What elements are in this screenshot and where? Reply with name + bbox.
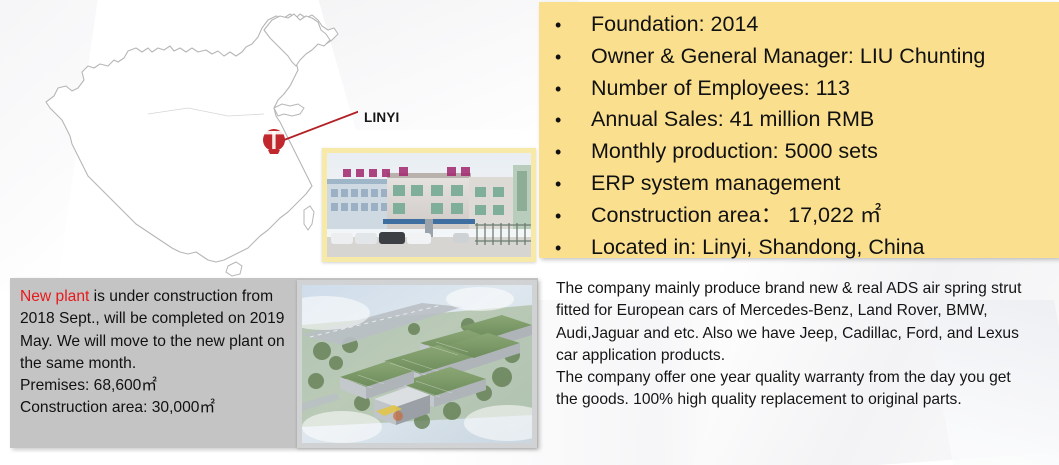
china-taiwan-path <box>304 206 314 230</box>
fact-item-annual-sales: • Annual Sales: 41 million RMB <box>555 104 1053 136</box>
bullet-icon: • <box>555 10 591 41</box>
new-plant-text: New plant is under construction from 201… <box>20 286 310 420</box>
company-facts-list: • Foundation: 2014 • Owner & General Man… <box>555 9 1053 263</box>
bullet-icon: • <box>555 74 591 105</box>
bullet-icon: • <box>555 169 591 200</box>
construction-area-line: Construction area: 30,000㎡ <box>20 397 310 419</box>
bullet-icon: • <box>555 233 591 264</box>
description-paragraph-2: The company offer one year quality warra… <box>556 367 1034 412</box>
slide-canvas: LINYI <box>0 0 1059 465</box>
new-plant-highlight: New plant <box>20 288 89 305</box>
premises-line: Premises: 68,600㎡ <box>20 375 310 397</box>
factory-exterior-photo <box>322 148 536 262</box>
china-hainan-path <box>226 262 242 276</box>
company-facts-box: • Foundation: 2014 • Owner & General Man… <box>539 2 1059 258</box>
fact-item-erp: • ERP system management <box>555 168 1053 200</box>
fact-item-employees: • Number of Employees: 113 <box>555 73 1053 105</box>
bullet-icon: • <box>555 201 591 232</box>
bullet-icon: • <box>555 137 591 168</box>
fact-item-foundation: • Foundation: 2014 <box>555 9 1053 41</box>
linyi-city-label: LINYI <box>364 110 400 125</box>
china-shandong-path <box>274 104 304 116</box>
bullet-icon: • <box>555 42 591 73</box>
fact-item-monthly-production: • Monthly production: 5000 sets <box>555 136 1053 168</box>
fact-item-construction-area: • Construction area： 17,022 ㎡ <box>555 200 1053 232</box>
bullet-icon: • <box>555 105 591 136</box>
china-map <box>28 4 358 284</box>
description-paragraph-1: The company mainly produce brand new & r… <box>556 278 1034 367</box>
fact-item-owner: • Owner & General Manager: LIU Chunting <box>555 41 1053 73</box>
new-plant-aerial-rendering <box>297 280 537 448</box>
fact-item-location: • Located in: Linyi, Shandong, China <box>555 232 1053 264</box>
new-plant-paragraph: New plant is under construction from 201… <box>20 286 310 375</box>
company-description: The company mainly produce brand new & r… <box>556 278 1034 412</box>
